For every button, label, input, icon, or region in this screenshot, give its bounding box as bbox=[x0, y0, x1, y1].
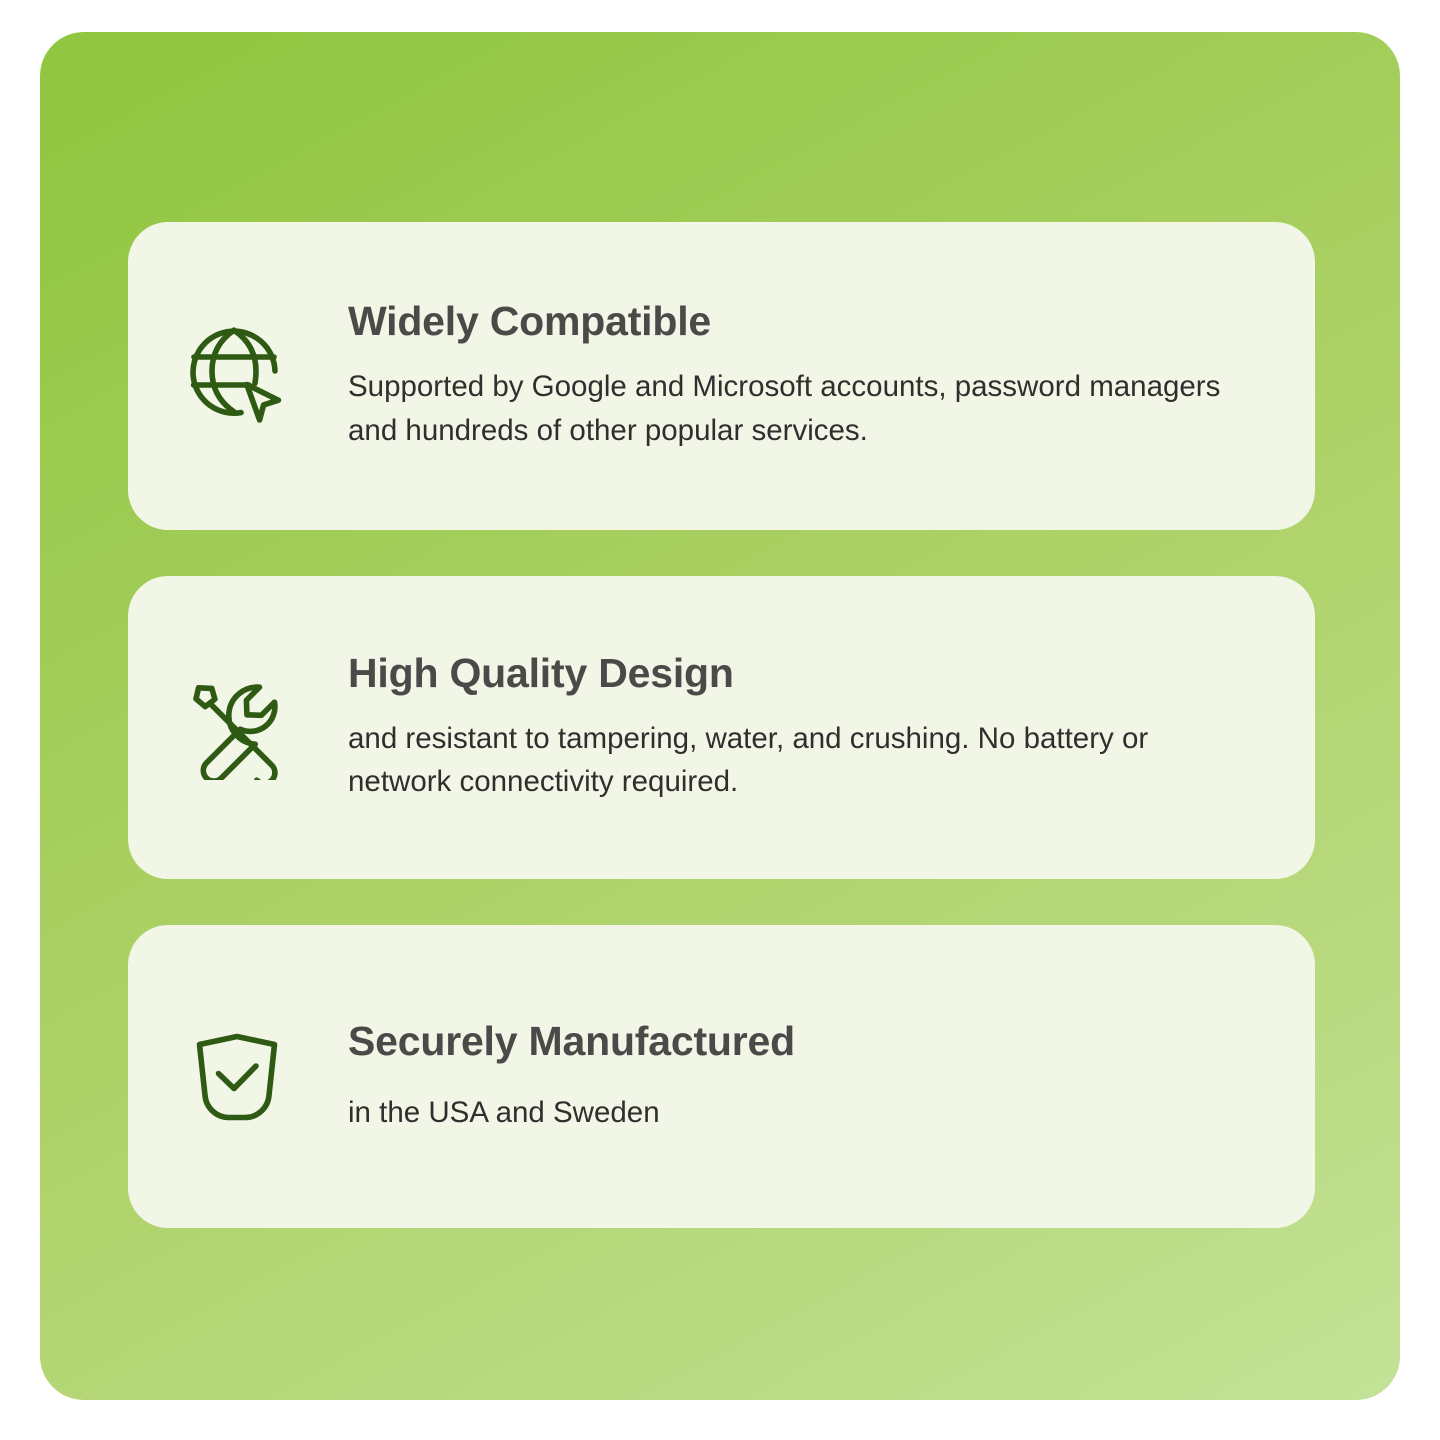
feature-card-high-quality-design[interactable]: High Quality Design and resistant to tam… bbox=[128, 576, 1315, 879]
feature-card-description: in the USA and Sweden bbox=[348, 1091, 1248, 1135]
feature-card-title: Widely Compatible bbox=[348, 299, 1261, 345]
feature-card-list: Widely Compatible Supported by Google an… bbox=[128, 222, 1315, 1228]
feature-card-text: High Quality Design and resistant to tam… bbox=[300, 651, 1271, 804]
globe-cursor-icon bbox=[174, 324, 300, 428]
green-gradient-panel: Widely Compatible Supported by Google an… bbox=[40, 32, 1400, 1400]
feature-card-title: High Quality Design bbox=[348, 651, 1261, 697]
feature-card-title: Securely Manufactured bbox=[348, 1019, 1261, 1065]
feature-card-securely-manufactured[interactable]: Securely Manufactured in the USA and Swe… bbox=[128, 925, 1315, 1228]
feature-card-text: Widely Compatible Supported by Google an… bbox=[300, 299, 1271, 452]
feature-card-widely-compatible[interactable]: Widely Compatible Supported by Google an… bbox=[128, 222, 1315, 530]
feature-card-description: and resistant to tampering, water, and c… bbox=[348, 717, 1248, 804]
feature-card-description: Supported by Google and Microsoft accoun… bbox=[348, 365, 1248, 452]
wrench-screwdriver-icon bbox=[174, 676, 300, 780]
shield-check-icon bbox=[174, 1025, 300, 1129]
feature-list-graphic: Widely Compatible Supported by Google an… bbox=[0, 0, 1440, 1440]
feature-card-text: Securely Manufactured in the USA and Swe… bbox=[300, 1019, 1271, 1135]
